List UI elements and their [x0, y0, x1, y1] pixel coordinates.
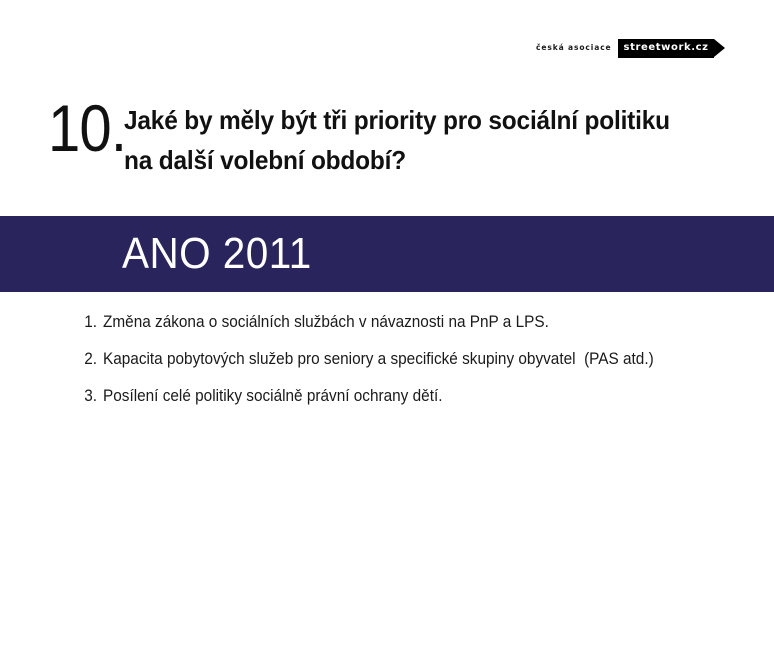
question-heading: 10. Jaké by měly být tři priority pro so…	[0, 95, 774, 190]
list-item-index: 2.	[7, 347, 97, 372]
question-title-line-2: na další volební období?	[124, 140, 688, 180]
list-item-text: Změna zákona o sociálních službách v náv…	[103, 310, 549, 335]
logo-mark-box: streetwork.cz	[618, 39, 714, 58]
list-item: 3. Posílení celé politiky sociálně právn…	[0, 384, 774, 421]
question-title: Jaké by měly být tři priority pro sociál…	[124, 100, 688, 180]
priority-list: 1. Změna zákona o sociálních službách v …	[0, 310, 774, 421]
brand-logo: česká asociace streetwork.cz	[536, 38, 725, 58]
question-number: 10.	[48, 95, 126, 161]
party-banner: ANO 2011	[0, 216, 774, 292]
list-item-text: Posílení celé politiky sociálně právní o…	[103, 384, 442, 409]
logo-mark-label: streetwork.cz	[624, 43, 709, 53]
question-title-line-1: Jaké by měly být tři priority pro sociál…	[124, 100, 688, 140]
association-label: česká asociace	[536, 44, 612, 53]
streetwork-logo-mark: streetwork.cz	[618, 39, 725, 58]
list-item-index: 1.	[7, 310, 97, 335]
list-item-index: 3.	[7, 384, 97, 409]
list-item-text: Kapacita pobytových služeb pro seniory a…	[103, 347, 654, 372]
party-name: ANO 2011	[122, 232, 312, 276]
list-item: 2. Kapacita pobytových služeb pro senior…	[0, 347, 774, 384]
list-item: 1. Změna zákona o sociálních službách v …	[0, 310, 774, 347]
arrow-right-icon	[714, 39, 725, 57]
